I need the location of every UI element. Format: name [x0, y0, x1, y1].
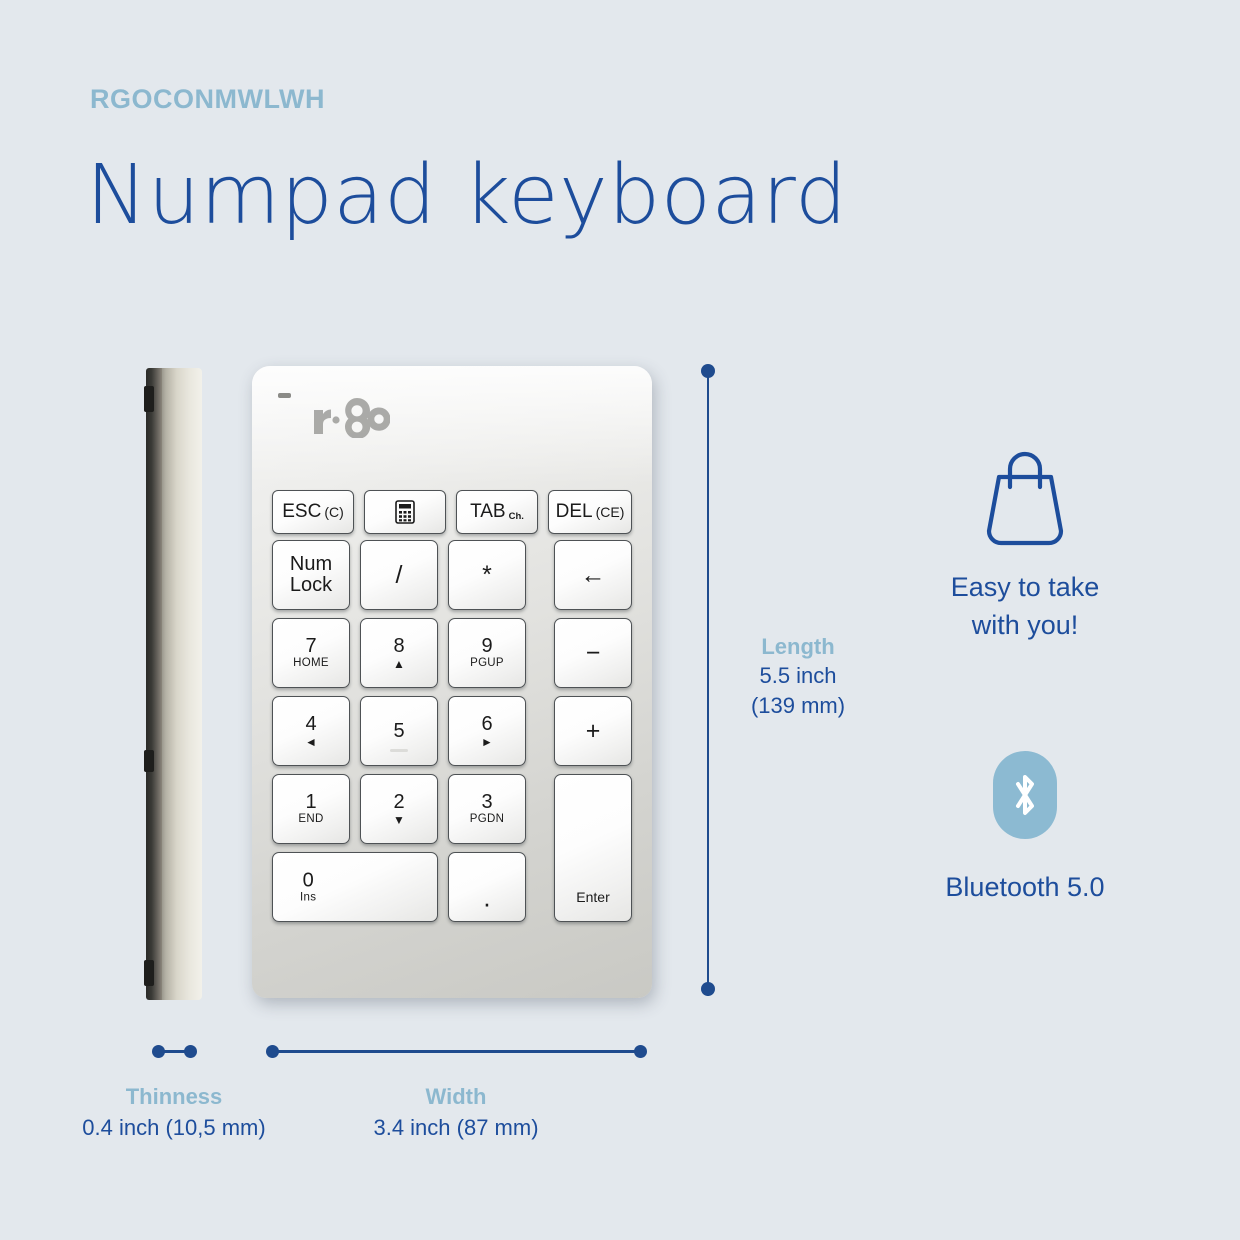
keyboard-top-view: ESC (C) — [252, 366, 652, 998]
led-indicator — [278, 393, 291, 398]
side-body — [160, 368, 202, 1000]
key-del-alt: (CE) — [596, 505, 625, 520]
thinness-dim-dot-left — [152, 1045, 165, 1058]
side-nub-middle — [144, 750, 154, 772]
length-mm: (139 mm) — [751, 693, 845, 718]
width-dim-dot-left — [266, 1045, 279, 1058]
key-3-sub: PGDN — [470, 813, 504, 825]
key-enter[interactable]: Enter — [554, 774, 632, 922]
key-0-label: 0 — [303, 870, 314, 891]
calculator-icon — [395, 500, 415, 524]
length-dim-dot-bottom — [701, 982, 715, 996]
key-1-label: 1 — [305, 792, 316, 813]
key-numlock-label: Num — [290, 554, 332, 575]
key-0[interactable]: 0 Ins — [272, 852, 438, 922]
key-period[interactable]: · — [448, 852, 526, 922]
key-enter-label: Enter — [555, 890, 631, 905]
key-backspace-label: ← — [581, 562, 606, 588]
feature-portable-text: Easy to take with you! — [860, 568, 1190, 645]
feature-portable-line1: Easy to take — [951, 572, 1100, 602]
side-nub-bottom — [144, 960, 154, 986]
key-2[interactable]: 2 ▼ — [360, 774, 438, 844]
key-esc-label: ESC — [282, 502, 321, 522]
product-infographic: RGOCONMWLWH Numpad keyboard — [0, 0, 1240, 1240]
key-tab-alt: Ch. — [509, 512, 524, 522]
feature-bluetooth: Bluetooth 5.0 — [860, 740, 1190, 906]
key-2-label: 2 — [393, 792, 404, 813]
key-7-label: 7 — [305, 636, 316, 657]
side-edge — [146, 368, 162, 1000]
feature-portable: Easy to take with you! — [860, 440, 1190, 645]
length-dimension-line — [707, 370, 709, 996]
key-9[interactable]: 9 PGUP — [448, 618, 526, 688]
key-3[interactable]: 3 PGDN — [448, 774, 526, 844]
arrow-down-icon: ▼ — [393, 814, 405, 827]
key-divide[interactable]: / — [360, 540, 438, 610]
key-del[interactable]: DEL (CE) — [548, 490, 632, 534]
homing-bump — [390, 749, 408, 752]
key-7-sub: HOME — [293, 657, 329, 669]
arrow-up-icon: ▲ — [393, 658, 405, 671]
key-6[interactable]: 6 ► — [448, 696, 526, 766]
key-calculator[interactable] — [364, 490, 446, 534]
length-dim-dot-top — [701, 364, 715, 378]
key-1-sub: END — [298, 813, 323, 825]
width-caption: Width — [316, 1082, 596, 1113]
key-esc[interactable]: ESC (C) — [272, 490, 354, 534]
key-4-label: 4 — [305, 714, 316, 735]
key-plus[interactable]: + — [554, 696, 632, 766]
key-numlock[interactable]: Num Lock — [272, 540, 350, 610]
key-plus-label: + — [586, 718, 601, 744]
key-8[interactable]: 8 ▲ — [360, 618, 438, 688]
side-nub-top — [144, 386, 154, 412]
key-multiply-label: * — [482, 562, 492, 588]
feature-portable-line2: with you! — [972, 610, 1079, 640]
key-esc-alt: (C) — [324, 505, 343, 520]
product-sku: RGOCONMWLWH — [90, 84, 325, 115]
key-1[interactable]: 1 END — [272, 774, 350, 844]
key-7[interactable]: 7 HOME — [272, 618, 350, 688]
key-0-sub: Ins — [300, 891, 316, 903]
key-grid: ESC (C) — [272, 490, 632, 980]
key-9-sub: PGUP — [470, 657, 504, 669]
length-dimension-label: Length 5.5 inch (139 mm) — [718, 632, 878, 720]
key-minus-label: − — [586, 640, 601, 666]
arrow-left-icon: ◄ — [305, 736, 317, 749]
thinness-dimension-label: Thinness 0.4 inch (10,5 mm) — [34, 1082, 314, 1144]
arrow-right-icon: ► — [481, 736, 493, 749]
key-3-label: 3 — [481, 792, 492, 813]
key-minus[interactable]: − — [554, 618, 632, 688]
width-value: 3.4 inch (87 mm) — [373, 1115, 538, 1140]
length-inch: 5.5 inch — [759, 663, 836, 688]
rgo-logo-icon — [312, 396, 390, 438]
thinness-caption: Thinness — [34, 1082, 314, 1113]
key-backspace[interactable]: ← — [554, 540, 632, 610]
key-9-label: 9 — [481, 636, 492, 657]
key-tab[interactable]: TAB Ch. — [456, 490, 538, 534]
width-dimension-line — [272, 1050, 640, 1053]
key-multiply[interactable]: * — [448, 540, 526, 610]
width-dimension-label: Width 3.4 inch (87 mm) — [316, 1082, 596, 1144]
feature-bluetooth-text: Bluetooth 5.0 — [860, 868, 1190, 906]
bluetooth-icon — [993, 751, 1057, 839]
key-5-label: 5 — [393, 721, 404, 742]
key-del-label: DEL — [556, 502, 593, 522]
page-title: Numpad keyboard — [86, 148, 847, 243]
thinness-dim-dot-right — [184, 1045, 197, 1058]
width-dim-dot-right — [634, 1045, 647, 1058]
feature-bluetooth-line1: Bluetooth 5.0 — [945, 872, 1104, 902]
keyboard-side-view — [146, 368, 202, 1000]
length-caption: Length — [718, 632, 878, 661]
bluetooth-icon-wrap — [860, 740, 1190, 850]
key-4[interactable]: 4 ◄ — [272, 696, 350, 766]
key-8-label: 8 — [393, 636, 404, 657]
key-5[interactable]: 5 — [360, 696, 438, 766]
shopping-bag-icon — [860, 440, 1190, 550]
thinness-value: 0.4 inch (10,5 mm) — [82, 1115, 265, 1140]
key-numlock-label2: Lock — [290, 575, 332, 596]
key-6-label: 6 — [481, 714, 492, 735]
key-tab-label: TAB — [470, 502, 506, 522]
key-divide-label: / — [396, 562, 403, 588]
